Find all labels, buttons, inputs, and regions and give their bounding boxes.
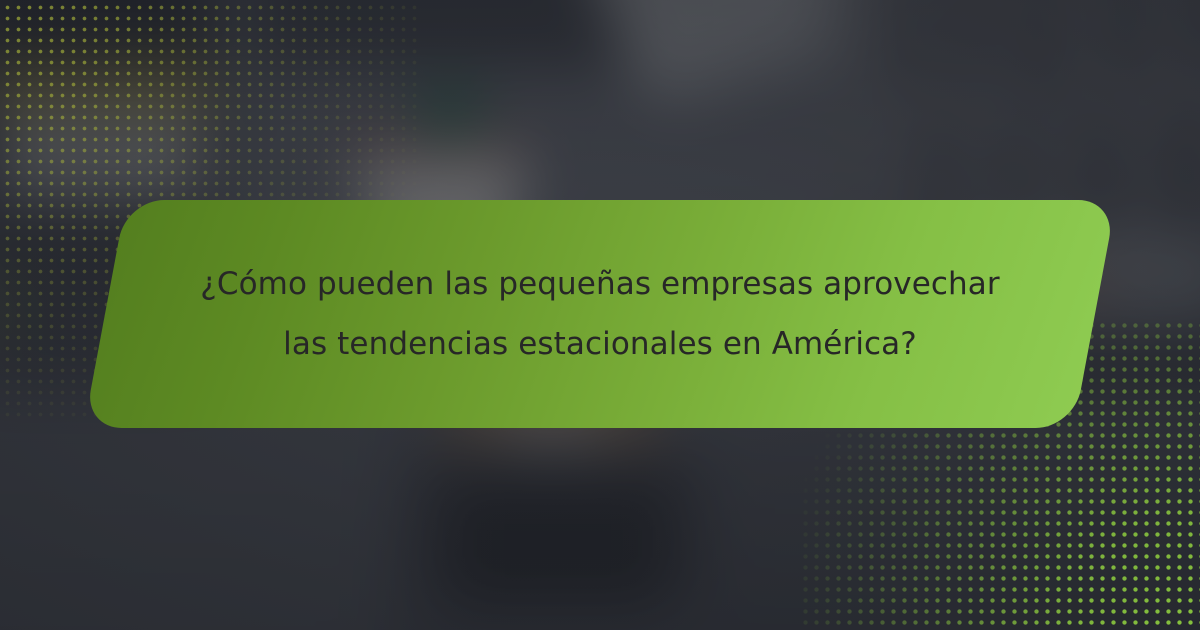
social-share-card: ¿Cómo pueden las pequeñas empresas aprov… (0, 0, 1200, 630)
question-banner: ¿Cómo pueden las pequeñas empresas aprov… (105, 200, 1095, 428)
question-banner-text: ¿Cómo pueden las pequeñas empresas aprov… (105, 200, 1095, 428)
question-line-2: las tendencias estacionales en América? (283, 316, 917, 372)
question-line-1: ¿Cómo pueden las pequeñas empresas aprov… (200, 256, 999, 312)
